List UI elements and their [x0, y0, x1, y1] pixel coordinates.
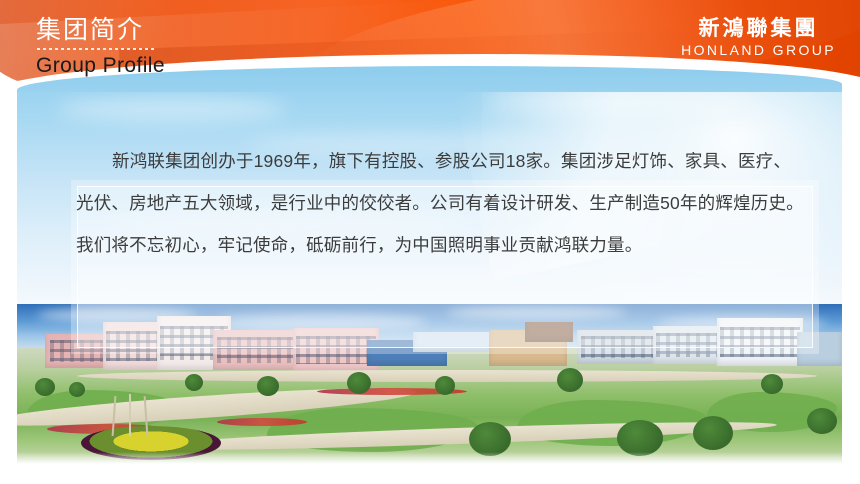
title-dotted-rule: [37, 47, 155, 51]
photo-bottom-fade: [17, 452, 842, 464]
photo-tree: [469, 422, 511, 456]
photo-tree: [69, 382, 85, 397]
photo-tree: [693, 416, 733, 450]
photo-tree: [185, 374, 203, 391]
profile-paragraph: 新鸿联集团创办于1969年，旗下有控股、参股公司18家。集团涉足灯饰、家具、医疗…: [76, 140, 790, 266]
brand-logo-en: HONLAND GROUP: [681, 41, 836, 59]
page-title-cn: 集团简介: [36, 14, 165, 46]
photo-tree: [807, 408, 837, 434]
photo-tree: [761, 374, 783, 394]
header-banner: 集团简介 Group Profile 新鴻聯集團 HONLAND GROUP: [0, 0, 860, 92]
photo-tree: [617, 420, 663, 456]
cloud-wisp: [487, 90, 747, 112]
cloud-wisp: [57, 96, 287, 122]
photo-tree: [347, 372, 371, 394]
paragraph-line: 我们将不忘初心，牢记使命，砥砺前行，为中国照明事业贡献鸿联力量。: [76, 224, 790, 266]
slide-root: 新鸿联集团创办于1969年，旗下有控股、参股公司18家。集团涉足灯饰、家具、医疗…: [0, 0, 860, 484]
page-title-en: Group Profile: [36, 53, 165, 79]
brand-logo-cn: 新鴻聯集團: [681, 17, 836, 41]
paragraph-line: 光伏、房地产五大领域，是行业中的佼佼者。公司有着设计研发、生产制造50年的辉煌历…: [76, 182, 790, 224]
photo-tree: [35, 378, 55, 396]
brand-logo: 新鴻聯集團 HONLAND GROUP: [681, 17, 836, 59]
photo-flagpole: [129, 394, 131, 436]
page-title: 集团简介 Group Profile: [36, 14, 165, 79]
paragraph-line: 新鸿联集团创办于1969年，旗下有控股、参股公司18家。集团涉足灯饰、家具、医疗…: [76, 140, 790, 182]
photo-tree: [557, 368, 583, 392]
photo-tree: [257, 376, 279, 396]
photo-tree: [435, 376, 455, 395]
photo-flowerbed: [217, 418, 307, 426]
